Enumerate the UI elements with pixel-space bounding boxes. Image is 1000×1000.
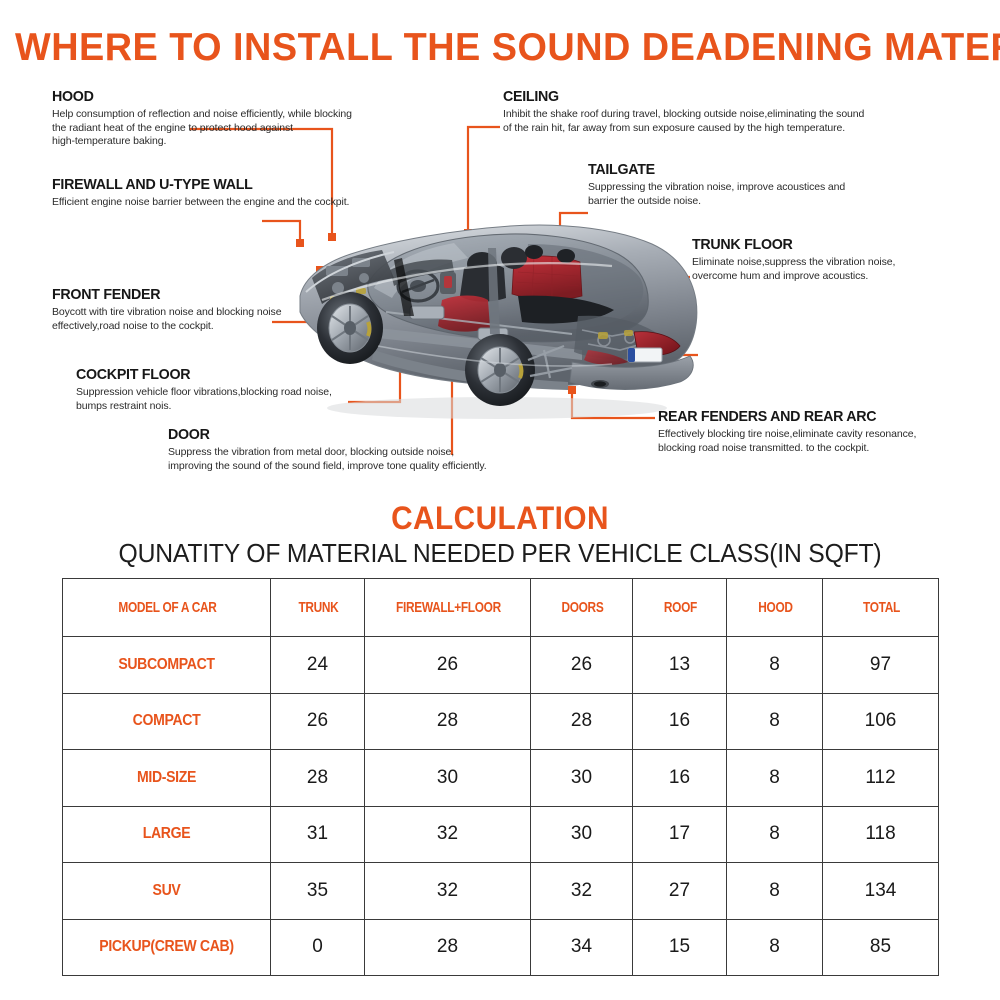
table-row: SUV 35 32 32 27 8 134 — [63, 863, 939, 920]
cell-firewall-floor: 30 — [365, 750, 531, 807]
callout-front-fender: FRONT FENDER Boycott with tire vibration… — [52, 286, 281, 333]
column-header-roof: ROOF — [637, 579, 722, 637]
cell-firewall-floor: 32 — [365, 863, 531, 920]
callout-cockpit-floor-title: COCKPIT FLOOR — [76, 366, 319, 383]
cell-roof: 13 — [633, 637, 727, 694]
cell-hood: 8 — [727, 919, 823, 976]
callout-front-fender-title: FRONT FENDER — [52, 286, 270, 303]
cell-doors: 30 — [531, 750, 633, 807]
callout-ceiling: CEILING Inhibit the shake roof during tr… — [503, 88, 864, 135]
row-label-mid-size: MID-SIZE — [63, 750, 271, 807]
calculation-subtitle: QUNATITY OF MATERIAL NEEDED PER VEHICLE … — [25, 538, 975, 569]
callout-hood: HOOD Help consumption of reflection and … — [52, 88, 352, 149]
cell-firewall-floor: 26 — [365, 637, 531, 694]
cell-total: 106 — [823, 693, 939, 750]
column-header-hood: HOOD — [731, 579, 817, 637]
cell-trunk: 31 — [271, 806, 365, 863]
cell-hood: 8 — [727, 806, 823, 863]
row-label-subcompact: SUBCOMPACT — [63, 637, 271, 694]
cell-doors: 32 — [531, 863, 633, 920]
column-header-total: TOTAL — [828, 579, 932, 637]
cell-hood: 8 — [727, 637, 823, 694]
cell-doors: 30 — [531, 806, 633, 863]
callout-front-fender-body: Boycott with tire vibration noise and bl… — [52, 306, 281, 333]
callout-door-title: DOOR — [168, 426, 471, 443]
cell-doors: 26 — [531, 637, 633, 694]
table-row: SUBCOMPACT 24 26 26 13 8 97 — [63, 637, 939, 694]
cell-roof: 16 — [633, 750, 727, 807]
row-label-pickup-crew-cab: PICKUP(CREW CAB) — [63, 919, 271, 976]
cell-doors: 28 — [531, 693, 633, 750]
callout-tailgate-title: TAILGATE — [588, 161, 832, 178]
cell-firewall-floor: 28 — [365, 693, 531, 750]
callout-trunk-floor-body: Eliminate noise,suppress the vibration n… — [692, 256, 895, 283]
cell-trunk: 35 — [271, 863, 365, 920]
table-row: MID-SIZE 28 30 30 16 8 112 — [63, 750, 939, 807]
row-label-large: LARGE — [63, 806, 271, 863]
table-row: PICKUP(CREW CAB) 0 28 34 15 8 85 — [63, 919, 939, 976]
cell-total: 118 — [823, 806, 939, 863]
cell-hood: 8 — [727, 750, 823, 807]
column-header-trunk: TRUNK — [275, 579, 360, 637]
callout-cockpit-floor: COCKPIT FLOOR Suppression vehicle floor … — [76, 366, 332, 413]
callout-door: DOOR Suppress the vibration from metal d… — [168, 426, 487, 473]
callout-tailgate: TAILGATE Suppressing the vibration noise… — [588, 161, 845, 208]
cell-total: 112 — [823, 750, 939, 807]
table-row: COMPACT 26 28 28 16 8 106 — [63, 693, 939, 750]
cell-total: 85 — [823, 919, 939, 976]
callout-ceiling-body: Inhibit the shake roof during travel, bl… — [503, 108, 864, 135]
callout-trunk-floor-title: TRUNK FLOOR — [692, 236, 885, 253]
callout-hood-body: Help consumption of reflection and noise… — [52, 108, 352, 149]
callout-tailgate-body: Suppressing the vibration noise, improve… — [588, 181, 845, 208]
callout-firewall-body: Efficient engine noise barrier between t… — [52, 196, 349, 210]
material-quantity-table: MODEL OF A CAR TRUNK FIREWALL+FLOOR DOOR… — [62, 578, 939, 976]
car-cutaway-illustration — [282, 200, 702, 430]
cell-trunk: 24 — [271, 637, 365, 694]
column-header-doors: DOORS — [536, 579, 628, 637]
calculation-title: CALCULATION — [35, 500, 965, 537]
callout-rear-fenders-title: REAR FENDERS AND REAR ARC — [658, 408, 903, 425]
callout-ceiling-title: CEILING — [503, 88, 846, 105]
cell-hood: 8 — [727, 863, 823, 920]
row-label-suv: SUV — [63, 863, 271, 920]
callout-rear-fenders-body: Effectively blocking tire noise,eliminat… — [658, 428, 916, 455]
cell-total: 97 — [823, 637, 939, 694]
cell-trunk: 26 — [271, 693, 365, 750]
callout-door-body: Suppress the vibration from metal door, … — [168, 446, 487, 473]
callout-trunk-floor: TRUNK FLOOR Eliminate noise,suppress the… — [692, 236, 895, 283]
column-header-firewall-floor: FIREWALL+FLOOR — [373, 579, 522, 637]
row-label-compact: COMPACT — [63, 693, 271, 750]
cell-roof: 15 — [633, 919, 727, 976]
table-header-row: MODEL OF A CAR TRUNK FIREWALL+FLOOR DOOR… — [63, 579, 939, 637]
cell-firewall-floor: 28 — [365, 919, 531, 976]
cell-total: 134 — [823, 863, 939, 920]
column-header-model: MODEL OF A CAR — [73, 579, 260, 637]
cell-roof: 27 — [633, 863, 727, 920]
cell-firewall-floor: 32 — [365, 806, 531, 863]
callout-rear-fenders: REAR FENDERS AND REAR ARC Effectively bl… — [658, 408, 916, 455]
callout-firewall: FIREWALL AND U-TYPE WALL Efficient engin… — [52, 176, 349, 210]
cell-roof: 17 — [633, 806, 727, 863]
callout-firewall-title: FIREWALL AND U-TYPE WALL — [52, 176, 334, 193]
cell-trunk: 28 — [271, 750, 365, 807]
cell-roof: 16 — [633, 693, 727, 750]
cell-hood: 8 — [727, 693, 823, 750]
cell-trunk: 0 — [271, 919, 365, 976]
cell-doors: 34 — [531, 919, 633, 976]
table-row: LARGE 31 32 30 17 8 118 — [63, 806, 939, 863]
callout-hood-title: HOOD — [52, 88, 337, 105]
callout-cockpit-floor-body: Suppression vehicle floor vibrations,blo… — [76, 386, 332, 413]
